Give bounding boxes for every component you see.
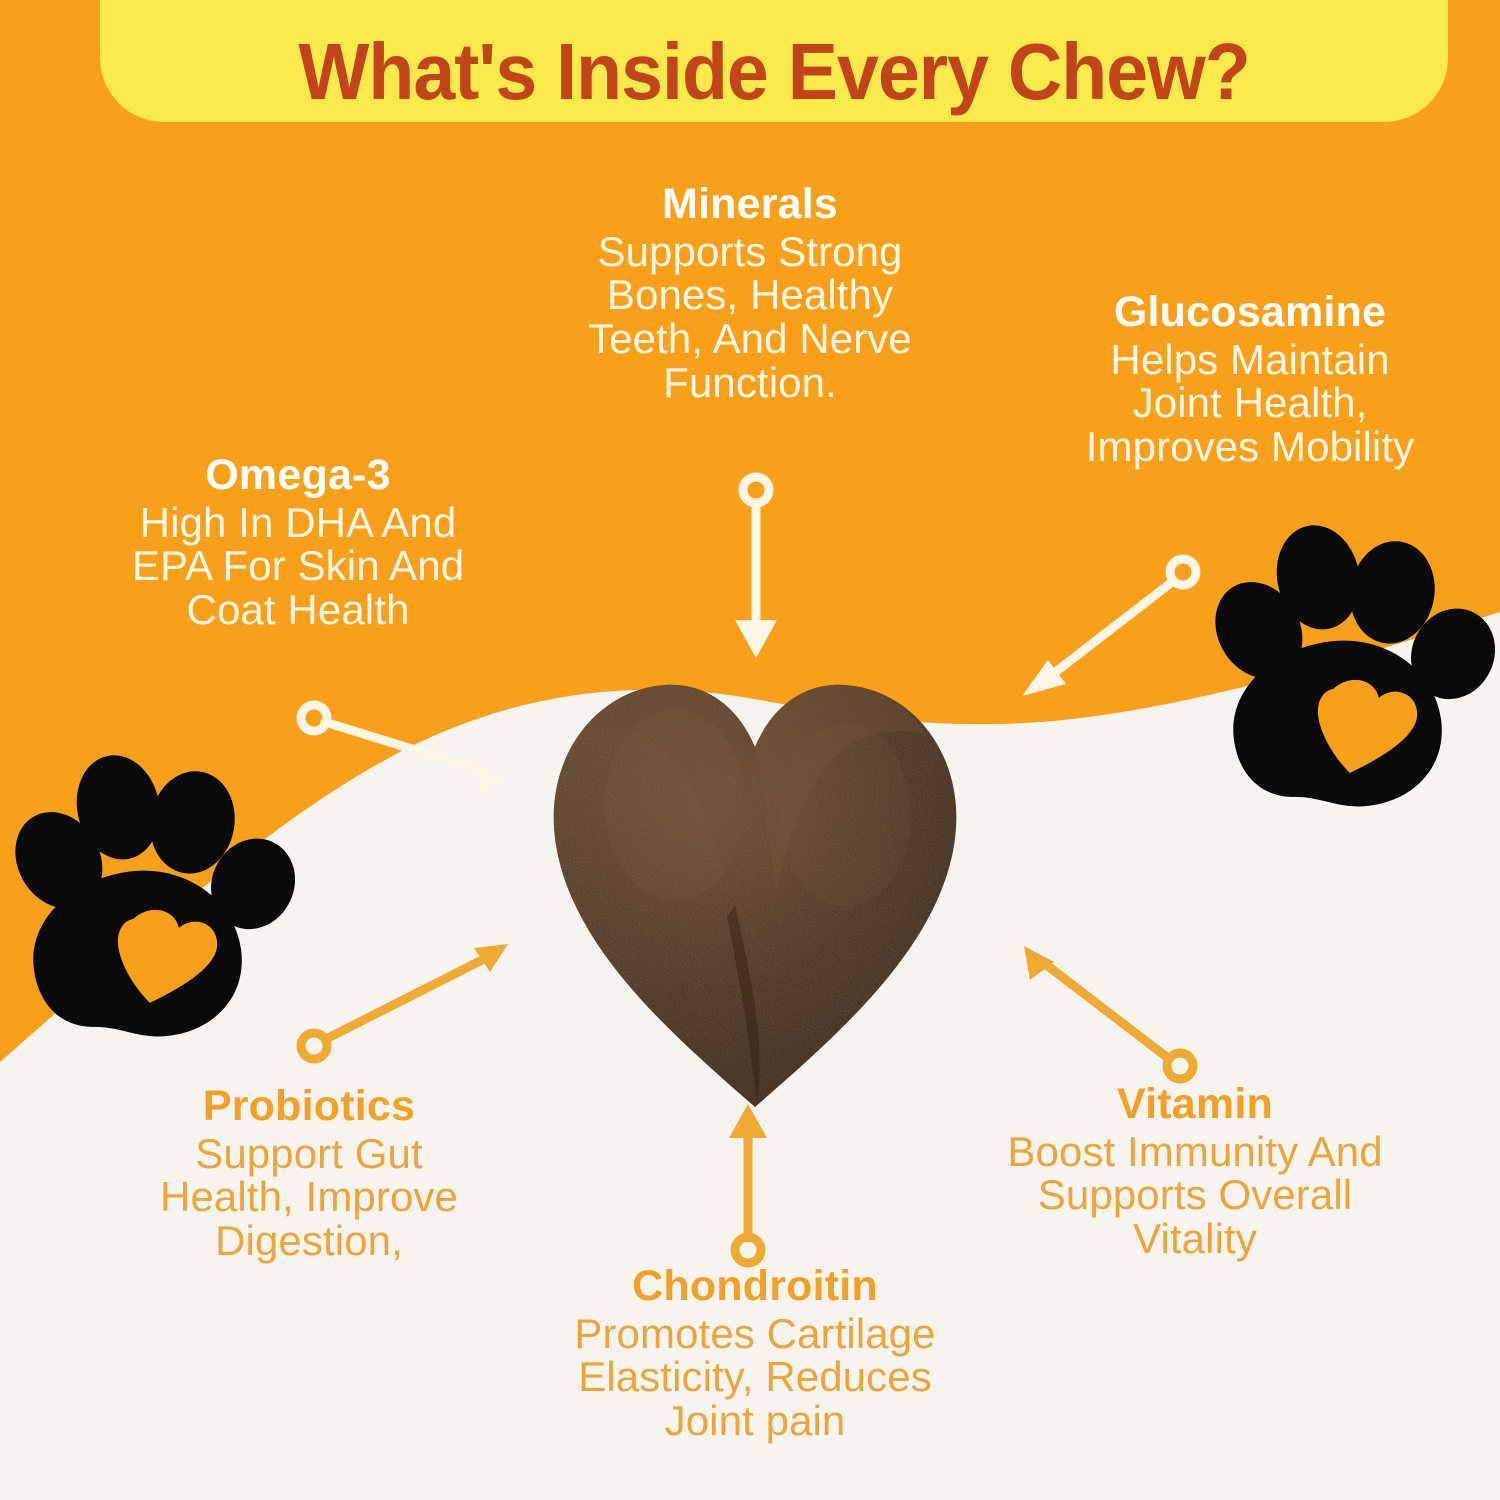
callout-chondroitin-line-1: Promotes Cartilage <box>574 1310 935 1357</box>
callout-chondroitin-title: Chondroitin <box>516 1264 994 1309</box>
callout-glucosamine: Glucosamine Helps Maintain Joint Health,… <box>1032 290 1468 469</box>
heart-shaped-dog-chew-image <box>525 655 985 1125</box>
callout-probiotics-line-1: Support Gut <box>195 1130 423 1177</box>
callout-chondroitin-line-2: Elasticity, Reduces <box>578 1353 932 1400</box>
paw-print-heart-icon-left <box>0 727 332 1055</box>
callout-vitamin-line-2: Supports Overall <box>1038 1171 1352 1218</box>
paw-print-heart-icon-right <box>1189 497 1500 825</box>
callout-glucosamine-line-3: Improves Mobility <box>1086 423 1414 470</box>
callout-chondroitin-body: Promotes Cartilage Elasticity, Reduces J… <box>516 1312 994 1443</box>
callout-vitamin-body: Boost Immunity And Supports Overall Vita… <box>952 1130 1438 1261</box>
callout-minerals-line-3: Teeth, And Nerve <box>588 315 912 362</box>
callout-probiotics-title: Probiotics <box>104 1084 514 1129</box>
callout-probiotics-line-2: Health, Improve <box>160 1173 458 1220</box>
callout-minerals-line-4: Function. <box>663 359 837 406</box>
callout-omega3-line-3: Coat Health <box>187 586 410 633</box>
callout-minerals: Minerals Supports Strong Bones, Healthy … <box>540 182 960 404</box>
callout-omega3-line-2: EPA For Skin And <box>132 542 464 589</box>
callout-chondroitin-line-3: Joint pain <box>665 1397 846 1444</box>
callout-glucosamine-line-1: Helps Maintain <box>1110 336 1389 383</box>
callout-omega3-body: High In DHA And EPA For Skin And Coat He… <box>78 501 518 632</box>
callout-omega3-line-1: High In DHA And <box>140 499 457 546</box>
callout-vitamin-line-3: Vitality <box>1133 1215 1257 1262</box>
callout-minerals-line-2: Bones, Healthy <box>607 271 893 318</box>
chew-body <box>525 655 985 1125</box>
callout-glucosamine-line-2: Joint Health, <box>1133 379 1368 426</box>
callout-probiotics: Probiotics Support Gut Health, Improve D… <box>104 1084 514 1263</box>
callout-minerals-line-1: Supports Strong <box>597 228 902 275</box>
callout-omega3: Omega-3 High In DHA And EPA For Skin And… <box>78 453 518 632</box>
callout-glucosamine-body: Helps Maintain Joint Health, Improves Mo… <box>1032 338 1468 469</box>
callout-minerals-body: Supports Strong Bones, Healthy Teeth, An… <box>540 230 960 405</box>
callout-minerals-title: Minerals <box>540 182 960 227</box>
callout-vitamin: Vitamin Boost Immunity And Supports Over… <box>952 1082 1438 1261</box>
callout-chondroitin: Chondroitin Promotes Cartilage Elasticit… <box>516 1264 994 1443</box>
callout-omega3-title: Omega-3 <box>78 453 518 498</box>
callout-vitamin-title: Vitamin <box>952 1082 1438 1127</box>
callout-probiotics-line-3: Digestion, <box>215 1217 403 1264</box>
infographic-canvas: What's Inside Every Chew? <box>0 0 1500 1500</box>
callout-glucosamine-title: Glucosamine <box>1032 290 1468 335</box>
callout-probiotics-body: Support Gut Health, Improve Digestion, <box>104 1132 514 1263</box>
callout-vitamin-line-1: Boost Immunity And <box>1007 1128 1382 1175</box>
